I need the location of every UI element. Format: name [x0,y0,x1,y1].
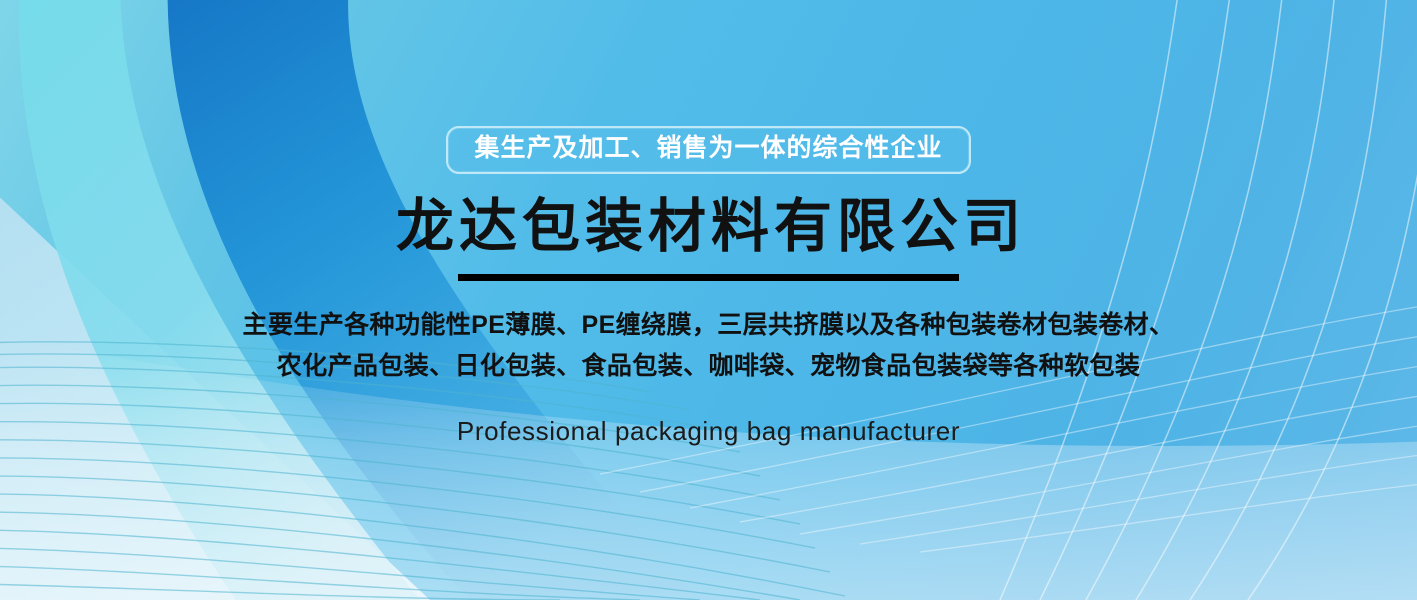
heading-underline-bar [458,274,959,281]
tagline-badge: 集生产及加工、销售为一体的综合性企业 [446,126,970,174]
description-block: 主要生产各种功能性PE薄膜、PE缠绕膜，三层共挤膜以及各种包装卷材包装卷材、 农… [243,305,1175,388]
description-line-2: 农化产品包装、日化包装、食品包装、咖啡袋、宠物食品包装袋等各种软包装 [243,346,1175,388]
company-banner: 集生产及加工、销售为一体的综合性企业 龙达包装材料有限公司 主要生产各种功能性P… [0,0,1417,600]
description-line-1: 主要生产各种功能性PE薄膜、PE缠绕膜，三层共挤膜以及各种包装卷材包装卷材、 [243,305,1175,347]
banner-content: 集生产及加工、销售为一体的综合性企业 龙达包装材料有限公司 主要生产各种功能性P… [0,0,1417,600]
company-name-heading: 龙达包装材料有限公司 [391,197,1026,256]
english-tagline: Professional packaging bag manufacturer [457,416,960,447]
